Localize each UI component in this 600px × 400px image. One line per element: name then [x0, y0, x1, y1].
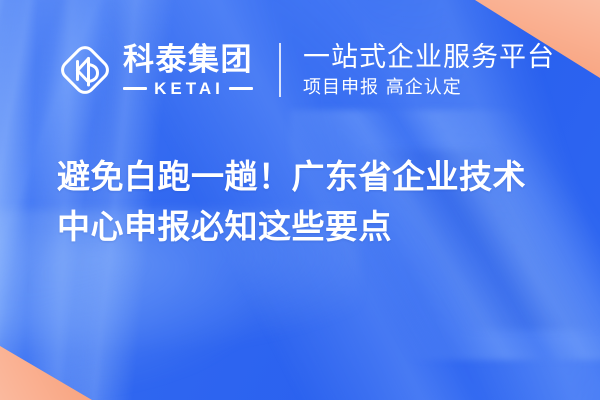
tagline-block: 一站式企业服务平台 项目申报 高企认定 [303, 42, 555, 99]
tagline-secondary: 项目申报 高企认定 [303, 77, 555, 99]
brand-name-en-row: KETAI [123, 80, 253, 97]
tagline-primary: 一站式企业服务平台 [303, 42, 555, 73]
ketai-kd-monogram-icon [57, 42, 113, 98]
banner-header: 科泰集团 KETAI 一站式企业服务平台 项目申报 高企认定 [0, 0, 600, 140]
wordmark-dash-left-icon [123, 87, 147, 90]
brand-logo[interactable]: 科泰集团 KETAI [57, 42, 253, 98]
brand-name-en: KETAI [152, 80, 224, 97]
page-title: 避免白跑一趟！广东省企业技术中心申报必知这些要点 [57, 152, 557, 252]
promo-banner: 科泰集团 KETAI 一站式企业服务平台 项目申报 高企认定 避免白跑一趟！广东… [0, 0, 600, 400]
brand-wordmark: 科泰集团 KETAI [123, 44, 253, 97]
vertical-divider-icon [279, 43, 281, 97]
corner-accent-bottom-left [0, 346, 92, 400]
brand-name-cn: 科泰集团 [123, 44, 253, 77]
wordmark-dash-right-icon [229, 87, 253, 90]
